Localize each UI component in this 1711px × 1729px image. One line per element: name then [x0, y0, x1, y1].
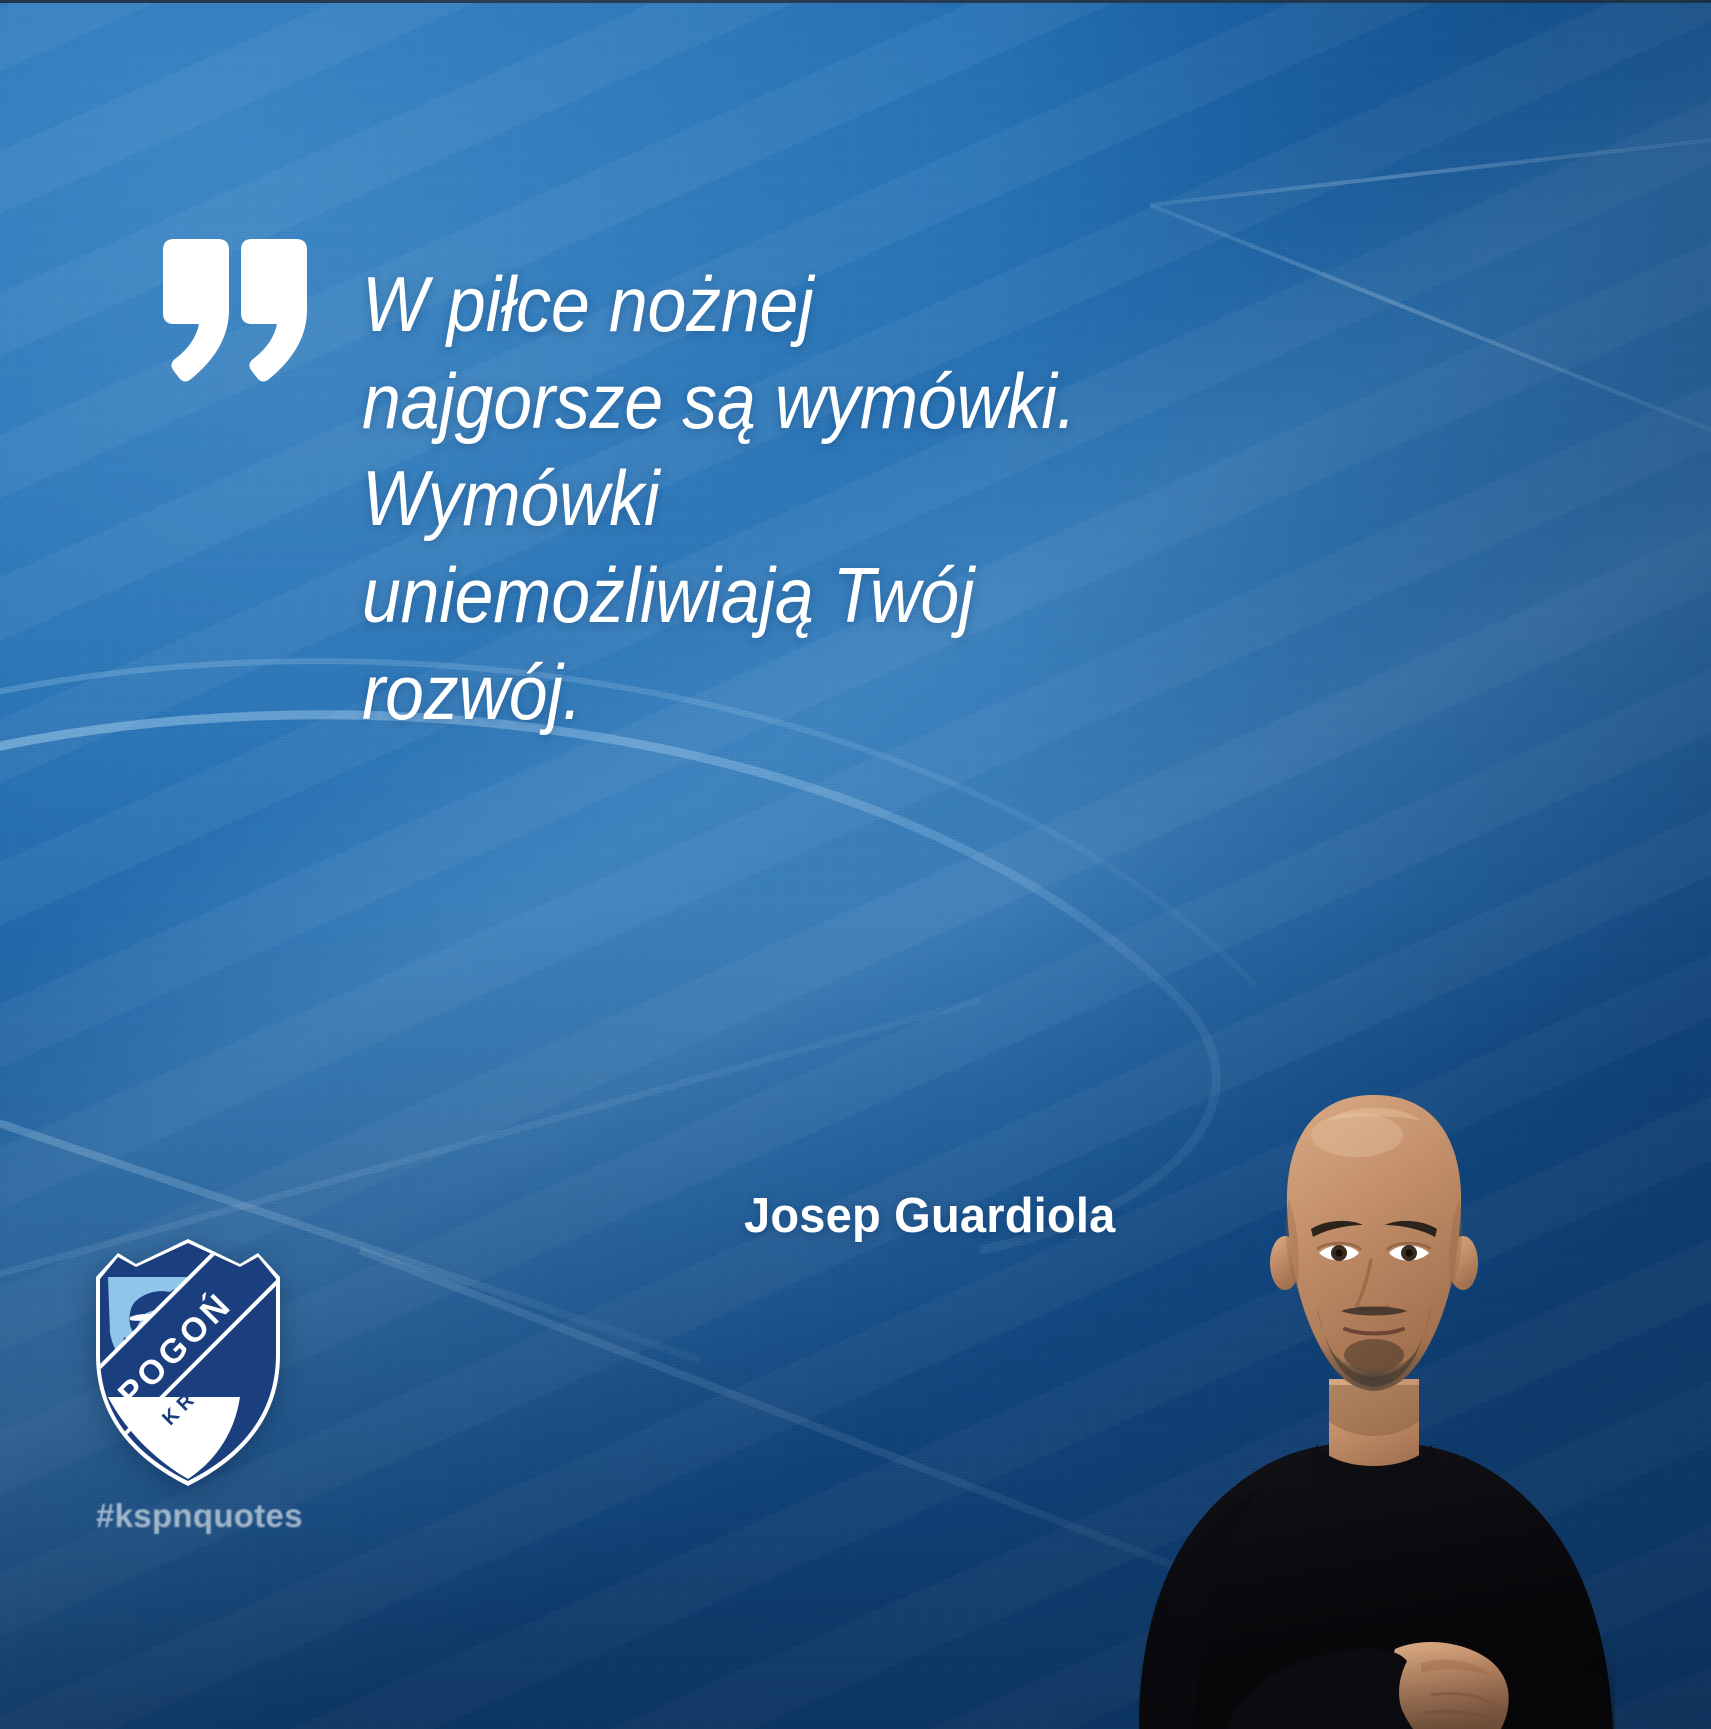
- right-double-quotation-mark-icon: [155, 236, 315, 386]
- quote-poster: W piłce nożnej najgorsze są wymówki. Wym…: [0, 0, 1711, 1729]
- quote-text: W piłce nożnej najgorsze są wymówki. Wym…: [362, 256, 1150, 742]
- hashtag-label: #kspnquotes: [96, 1497, 292, 1535]
- frame-top-edge: [0, 0, 1711, 3]
- portrait-josep-guardiola: [1027, 1049, 1711, 1729]
- club-crest-pogon-krakow: POGOŃ KRAKÓW: [90, 1237, 286, 1487]
